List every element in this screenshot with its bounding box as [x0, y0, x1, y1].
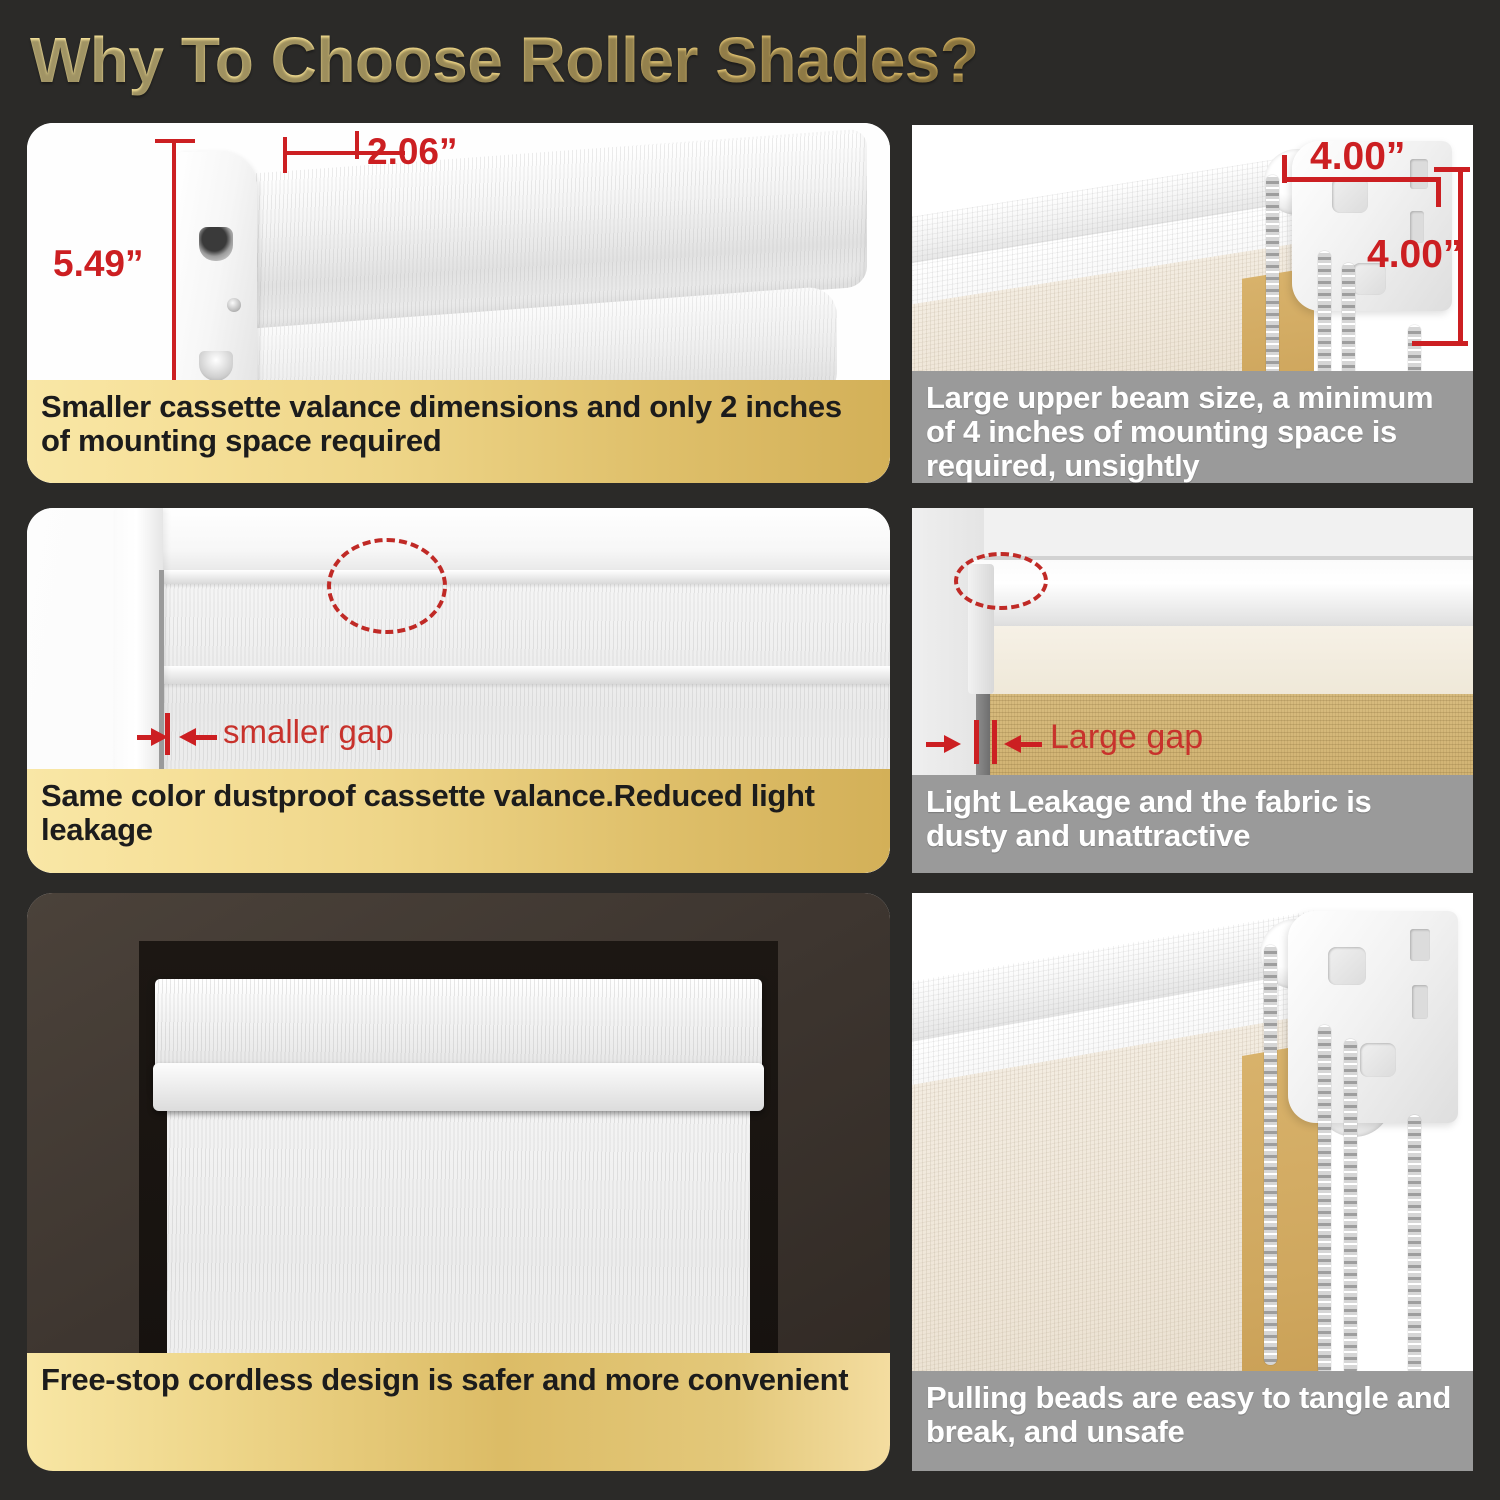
- panel-theirs-beads: Pulling beads are easy to tangle and bre…: [912, 893, 1473, 1471]
- panel-ours-cordless-caption: Free-stop cordless design is safer and m…: [27, 1353, 890, 1471]
- beam-width-tick-right: [1436, 177, 1441, 207]
- panel-theirs-beam-caption: Large upper beam size, a minimum of 4 in…: [912, 371, 1473, 483]
- width-dimension-tick-left: [283, 137, 287, 173]
- panel-theirs-beam: 4.00” 4.00” Large upper beam size, a min…: [912, 125, 1473, 483]
- panel-theirs-gap: Large gap Light Leakage and the fabric i…: [912, 508, 1473, 873]
- panel-theirs-beads-caption: Pulling beads are easy to tangle and bre…: [912, 1371, 1473, 1471]
- panel-ours-gap: smaller gap Same color dustproof cassett…: [27, 508, 890, 873]
- panel-theirs-gap-caption: Light Leakage and the fabric is dusty an…: [912, 775, 1473, 873]
- panel-ours-cassette-caption: Smaller cassette valance dimensions and …: [27, 380, 890, 483]
- page-title: Why To Choose Roller Shades?: [30, 22, 1130, 98]
- panel-ours-gap-caption: Same color dustproof cassette valance.Re…: [27, 769, 890, 873]
- height-dimension-line: [172, 141, 176, 417]
- beam-height-label: 4.00”: [1367, 235, 1462, 274]
- beam-height-tick-top: [1434, 167, 1470, 172]
- height-dimension-tick-top: [155, 139, 195, 143]
- panel-ours-cassette: 2.06” 5.49” Smaller cassette valance dim…: [27, 123, 890, 483]
- height-dimension-label: 5.49”: [53, 245, 144, 282]
- large-gap-label: Large gap: [1050, 720, 1203, 754]
- infographic-root: Why To Choose Roller Shades? 2.06” 5.49”…: [0, 0, 1500, 1500]
- width-dimension-tick-right: [355, 131, 359, 159]
- beam-width-tick-left: [1282, 155, 1287, 183]
- beam-height-tick-bottom: [1412, 341, 1468, 346]
- width-dimension-label: 2.06”: [367, 133, 458, 170]
- panel-ours-cordless: Free-stop cordless design is safer and m…: [27, 893, 890, 1471]
- gap-highlight-ellipse: [954, 552, 1048, 610]
- smaller-gap-label: smaller gap: [223, 715, 394, 748]
- beam-width-label: 4.00”: [1310, 137, 1405, 176]
- gap-highlight-ellipse: [327, 538, 447, 634]
